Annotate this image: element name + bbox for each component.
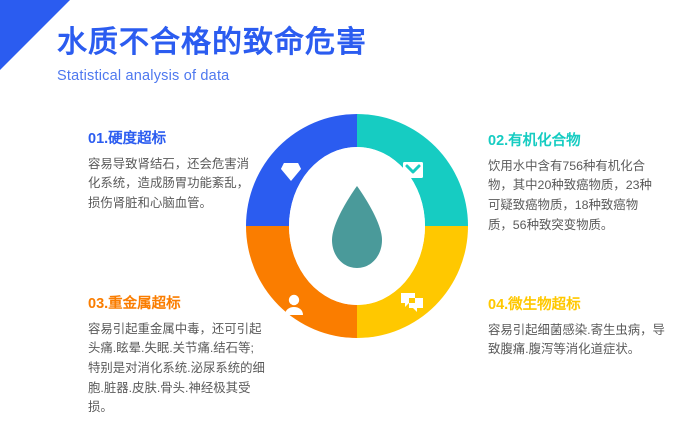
info-block-03-heading: 03.重金属超标 [88,295,266,314]
info-block-01-heading: 01.硬度超标 [88,130,260,149]
info-block-04: 04.微生物超标 容易引起细菌感染.寄生虫病，导致腹痛.腹泻等消化道症状。 [488,296,668,360]
page-title: 水质不合格的致命危害 [57,24,487,62]
info-block-02-heading: 02.有机化合物 [488,132,660,151]
info-block-01-body: 容易导致肾结石，还会危害消化系统，造成肠胃功能紊乱，损伤肾脏和心脑血管。 [88,155,260,214]
info-block-04-heading: 04.微生物超标 [488,296,668,315]
info-block-02-body: 饮用水中含有756种有机化合物，其中20种致癌物质，23种可疑致癌物质，18种致… [488,157,660,235]
info-block-01: 01.硬度超标 容易导致肾结石，还会危害消化系统，造成肠胃功能紊乱，损伤肾脏和心… [88,130,260,214]
slide-canvas: 水质不合格的致命危害 Statistical analysis of data … [0,0,700,448]
chat-icon [400,292,424,314]
person-icon [284,294,304,316]
central-diagram [244,112,470,340]
info-block-04-body: 容易引起细菌感染.寄生虫病，导致腹痛.腹泻等消化道症状。 [488,321,668,360]
info-block-03: 03.重金属超标 容易引起重金属中毒，还可引起头痛.眩晕.失眠.关节痛.结石等;… [88,295,266,418]
page-subtitle: Statistical analysis of data [57,68,487,85]
header: 水质不合格的致命危害 Statistical analysis of data [57,24,487,85]
info-block-02: 02.有机化合物 饮用水中含有756种有机化合物，其中20种致癌物质，23种可疑… [488,132,660,235]
diamond-icon [280,162,302,182]
envelope-icon [402,160,424,180]
info-block-03-body: 容易引起重金属中毒，还可引起头痛.眩晕.失眠.关节痛.结石等;特别是对消化系统.… [88,320,266,418]
